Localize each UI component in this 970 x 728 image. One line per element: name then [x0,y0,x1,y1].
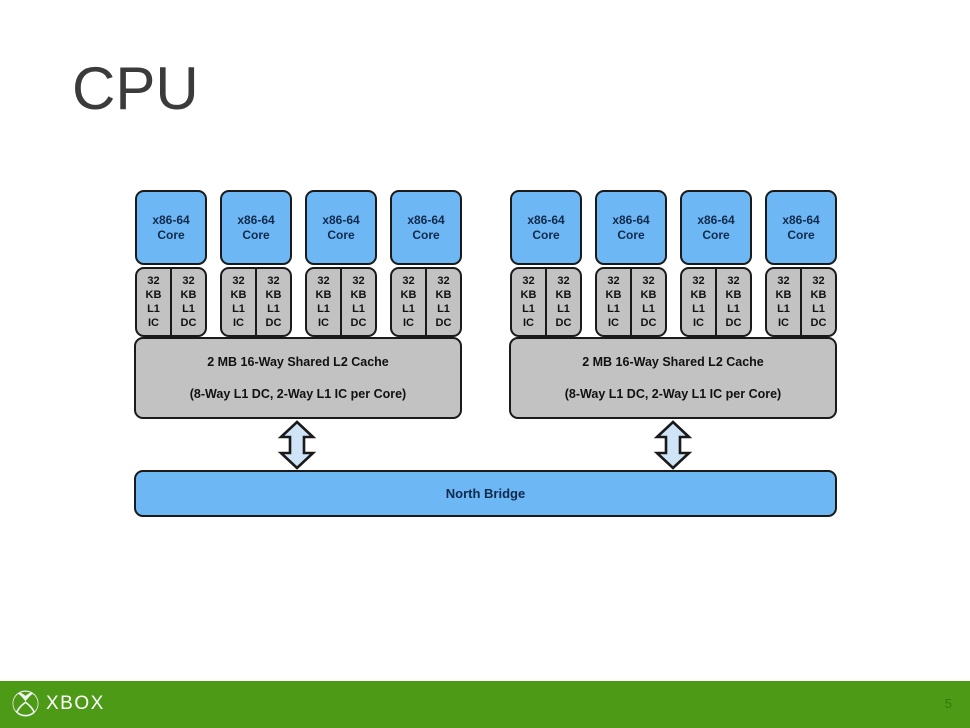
l1-dc-size: 32 [727,274,739,288]
l1-data-cache[interactable]: 32 KB L1 DC [546,267,582,337]
core-group: x86-64 Core 32 KB L1 IC 32 KB L1 DC [680,190,752,337]
l1-dc-unit: KB [556,288,572,302]
bus-connector-right [650,420,696,470]
l1-dc-level: L1 [267,302,280,316]
cpu-module-left: x86-64 Core 32 KB L1 IC 32 KB L1 DC [135,190,462,335]
l1-cache-row: 32 KB L1 IC 32 KB L1 DC [680,267,752,337]
l1-ic-unit: KB [401,288,417,302]
l1-ic-type: IC [148,316,159,330]
l1-instruction-cache[interactable]: 32 KB L1 IC [135,267,171,337]
xbox-sphere-logo-icon [12,690,39,717]
l1-cache-row: 32 KB L1 IC 32 KB L1 DC [595,267,667,337]
l2-cache-subtitle: (8-Way L1 DC, 2-Way L1 IC per Core) [190,387,406,401]
core-label-arch: x86-64 [697,213,734,228]
l1-dc-level: L1 [557,302,570,316]
l1-data-cache[interactable]: 32 KB L1 DC [631,267,667,337]
l1-ic-size: 32 [692,274,704,288]
l1-ic-unit: KB [146,288,162,302]
core-label-core: Core [327,228,354,243]
l1-ic-level: L1 [317,302,330,316]
l1-ic-level: L1 [147,302,160,316]
l1-cache-row: 32 KB L1 IC 32 KB L1 DC [390,267,462,337]
l1-dc-unit: KB [726,288,742,302]
core-box[interactable]: x86-64 Core [135,190,207,265]
double-headed-vertical-arrow-icon [650,420,696,470]
l1-dc-type: DC [266,316,282,330]
l1-data-cache[interactable]: 32 KB L1 DC [426,267,462,337]
l1-ic-unit: KB [231,288,247,302]
l1-dc-level: L1 [727,302,740,316]
l1-ic-level: L1 [232,302,245,316]
xbox-brand: XBOX [12,690,105,717]
core-label-arch: x86-64 [782,213,819,228]
l1-ic-size: 32 [522,274,534,288]
page-number: 5 [945,696,952,711]
l1-dc-unit: KB [181,288,197,302]
l1-ic-level: L1 [607,302,620,316]
l1-dc-size: 32 [352,274,364,288]
core-box[interactable]: x86-64 Core [680,190,752,265]
core-box[interactable]: x86-64 Core [305,190,377,265]
l2-cache-left[interactable]: 2 MB 16-Way Shared L2 Cache (8-Way L1 DC… [134,337,462,419]
l1-data-cache[interactable]: 32 KB L1 DC [801,267,837,337]
core-group: x86-64 Core 32 KB L1 IC 32 KB L1 DC [765,190,837,337]
l1-dc-type: DC [351,316,367,330]
l1-instruction-cache[interactable]: 32 KB L1 IC [765,267,801,337]
l2-cache-right[interactable]: 2 MB 16-Way Shared L2 Cache (8-Way L1 DC… [509,337,837,419]
l1-instruction-cache[interactable]: 32 KB L1 IC [220,267,256,337]
l1-ic-unit: KB [316,288,332,302]
l1-cache-row: 32 KB L1 IC 32 KB L1 DC [135,267,207,337]
l2-cache-title: 2 MB 16-Way Shared L2 Cache [207,355,389,369]
l1-ic-size: 32 [147,274,159,288]
core-label-arch: x86-64 [237,213,274,228]
l1-ic-unit: KB [691,288,707,302]
core-group: x86-64 Core 32 KB L1 IC 32 KB L1 DC [510,190,582,337]
xbox-wordmark: XBOX [46,694,105,713]
core-label-core: Core [617,228,644,243]
core-label-core: Core [532,228,559,243]
core-label-core: Core [157,228,184,243]
l1-ic-type: IC [778,316,789,330]
l2-cache-title: 2 MB 16-Way Shared L2 Cache [582,355,764,369]
l1-dc-level: L1 [812,302,825,316]
double-headed-vertical-arrow-icon [274,420,320,470]
l1-ic-level: L1 [522,302,535,316]
l1-ic-size: 32 [402,274,414,288]
l1-data-cache[interactable]: 32 KB L1 DC [341,267,377,337]
l1-ic-unit: KB [521,288,537,302]
l1-ic-level: L1 [402,302,415,316]
l1-dc-level: L1 [182,302,195,316]
core-group: x86-64 Core 32 KB L1 IC 32 KB L1 DC [390,190,462,337]
l1-dc-unit: KB [351,288,367,302]
core-box[interactable]: x86-64 Core [390,190,462,265]
l1-instruction-cache[interactable]: 32 KB L1 IC [595,267,631,337]
core-box[interactable]: x86-64 Core [220,190,292,265]
core-label-arch: x86-64 [527,213,564,228]
l1-dc-unit: KB [641,288,657,302]
core-box[interactable]: x86-64 Core [510,190,582,265]
l1-ic-size: 32 [777,274,789,288]
l1-dc-type: DC [726,316,742,330]
l1-ic-type: IC [403,316,414,330]
l1-dc-size: 32 [557,274,569,288]
cpu-module-right: x86-64 Core 32 KB L1 IC 32 KB L1 DC [510,190,837,335]
l1-cache-row: 32 KB L1 IC 32 KB L1 DC [510,267,582,337]
l1-dc-size: 32 [437,274,449,288]
l1-ic-type: IC [318,316,329,330]
l1-dc-type: DC [556,316,572,330]
l1-ic-level: L1 [777,302,790,316]
core-label-core: Core [412,228,439,243]
core-group: x86-64 Core 32 KB L1 IC 32 KB L1 DC [595,190,667,337]
core-box[interactable]: x86-64 Core [765,190,837,265]
l1-dc-size: 32 [267,274,279,288]
l1-dc-size: 32 [642,274,654,288]
l1-ic-level: L1 [692,302,705,316]
l1-ic-size: 32 [232,274,244,288]
l1-dc-type: DC [811,316,827,330]
core-box[interactable]: x86-64 Core [595,190,667,265]
north-bridge-label: North Bridge [446,486,525,501]
l1-ic-size: 32 [607,274,619,288]
l1-ic-type: IC [233,316,244,330]
l1-dc-level: L1 [642,302,655,316]
l1-dc-unit: KB [811,288,827,302]
l1-dc-type: DC [641,316,657,330]
core-label-core: Core [702,228,729,243]
core-label-arch: x86-64 [152,213,189,228]
slide-canvas: CPU x86-64 Core 32 KB L1 IC 32 [0,0,970,728]
l1-ic-unit: KB [606,288,622,302]
l1-cache-row: 32 KB L1 IC 32 KB L1 DC [305,267,377,337]
l2-cache-subtitle: (8-Way L1 DC, 2-Way L1 IC per Core) [565,387,781,401]
l1-cache-row: 32 KB L1 IC 32 KB L1 DC [220,267,292,337]
slide-footer: XBOX 5 [0,681,970,728]
l1-data-cache[interactable]: 32 KB L1 DC [256,267,292,337]
bus-connector-left [274,420,320,470]
l1-instruction-cache[interactable]: 32 KB L1 IC [390,267,426,337]
core-group: x86-64 Core 32 KB L1 IC 32 KB L1 DC [135,190,207,337]
l1-instruction-cache[interactable]: 32 KB L1 IC [510,267,546,337]
core-label-core: Core [787,228,814,243]
core-label-core: Core [242,228,269,243]
l1-dc-unit: KB [436,288,452,302]
l1-dc-size: 32 [182,274,194,288]
l1-ic-type: IC [523,316,534,330]
l1-data-cache[interactable]: 32 KB L1 DC [716,267,752,337]
l1-ic-size: 32 [317,274,329,288]
l1-dc-level: L1 [437,302,450,316]
core-label-arch: x86-64 [407,213,444,228]
l1-cache-row: 32 KB L1 IC 32 KB L1 DC [765,267,837,337]
cpu-architecture-diagram: x86-64 Core 32 KB L1 IC 32 KB L1 DC [0,0,970,680]
l1-instruction-cache[interactable]: 32 KB L1 IC [680,267,716,337]
l1-dc-level: L1 [352,302,365,316]
core-group: x86-64 Core 32 KB L1 IC 32 KB L1 DC [305,190,377,337]
l1-dc-unit: KB [266,288,282,302]
north-bridge-block[interactable]: North Bridge [134,470,837,517]
core-label-arch: x86-64 [322,213,359,228]
l1-instruction-cache[interactable]: 32 KB L1 IC [305,267,341,337]
l1-dc-size: 32 [812,274,824,288]
core-label-arch: x86-64 [612,213,649,228]
core-group: x86-64 Core 32 KB L1 IC 32 KB L1 DC [220,190,292,337]
l1-ic-unit: KB [776,288,792,302]
l1-dc-type: DC [436,316,452,330]
l1-dc-type: DC [181,316,197,330]
l1-ic-type: IC [608,316,619,330]
l1-data-cache[interactable]: 32 KB L1 DC [171,267,207,337]
l1-ic-type: IC [693,316,704,330]
